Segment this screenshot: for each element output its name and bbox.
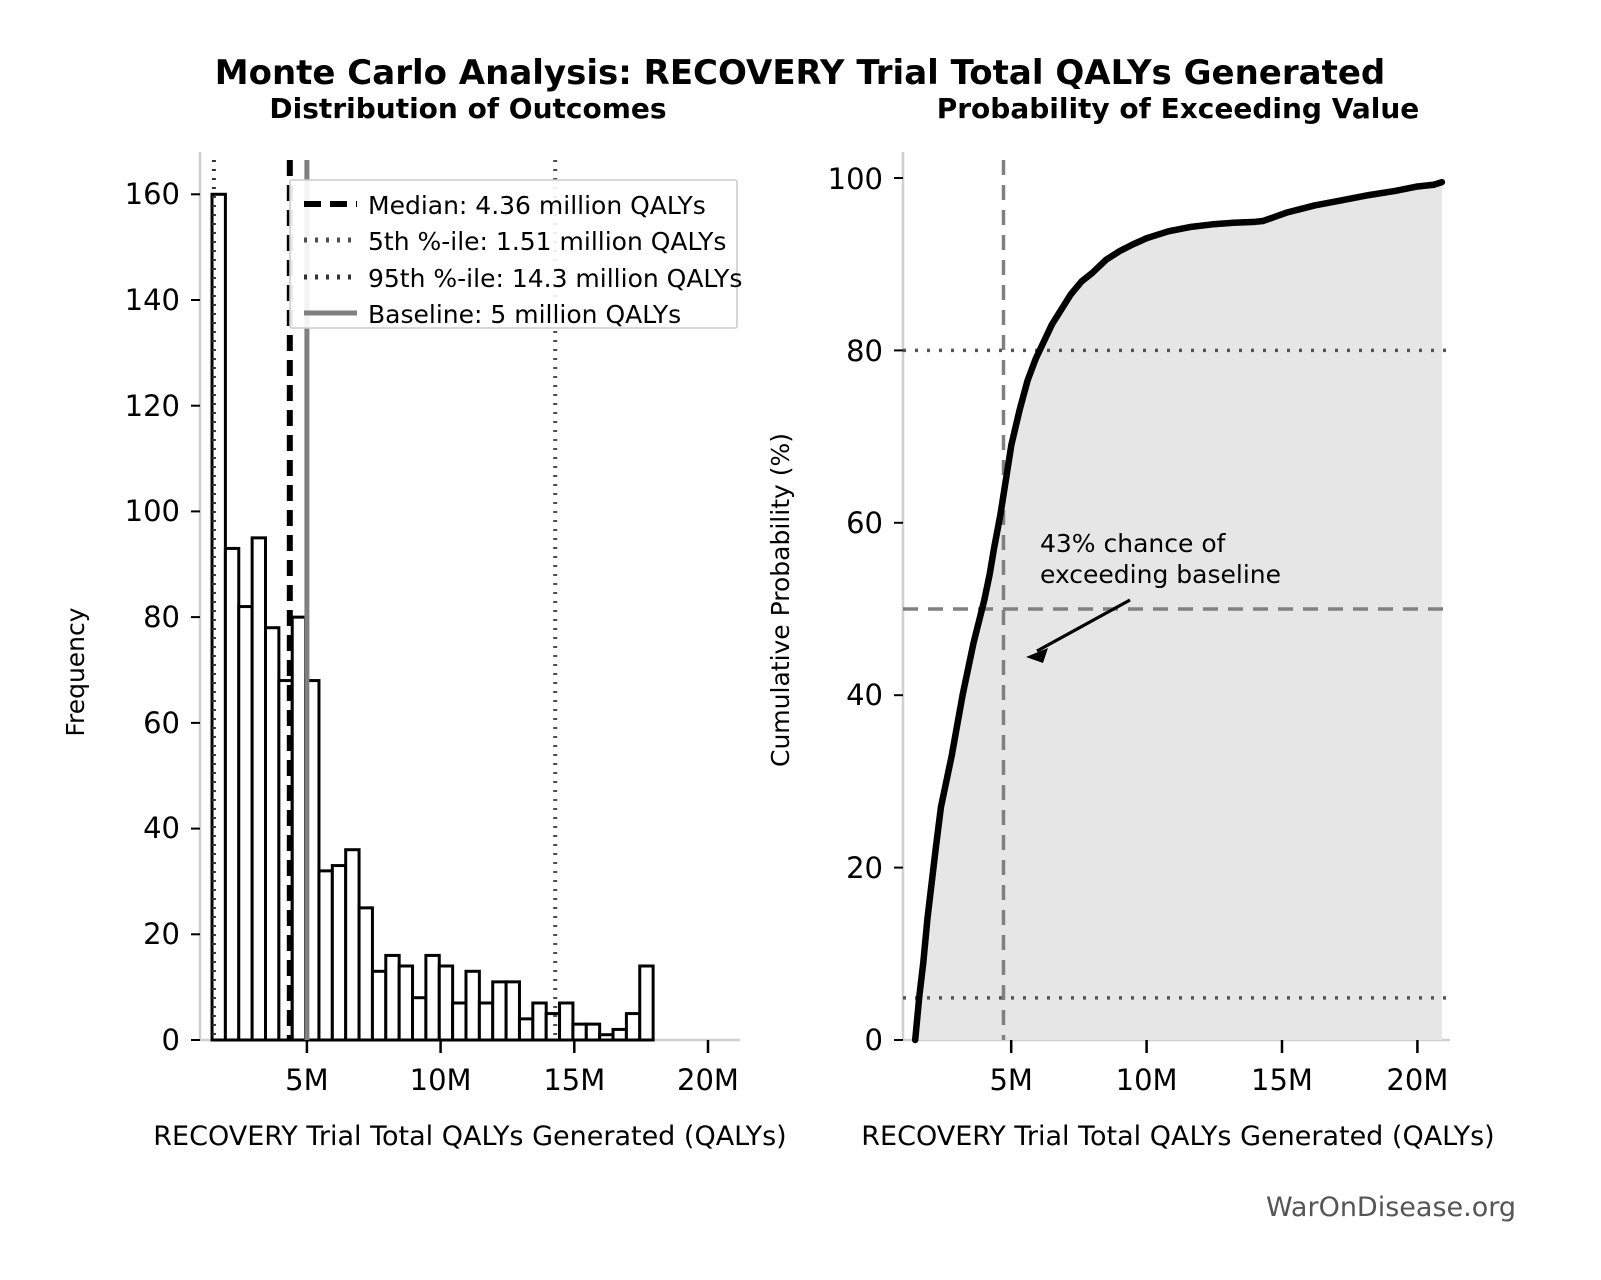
left-xtick-5m: 5M bbox=[285, 1063, 328, 1097]
right-xtick-20m: 20M bbox=[1386, 1063, 1448, 1097]
histogram-bar bbox=[560, 1003, 573, 1040]
right-ytick-0: 0 bbox=[865, 1023, 883, 1057]
histogram-bar bbox=[600, 1035, 613, 1040]
histogram-bar bbox=[573, 1024, 586, 1040]
histogram-bar bbox=[399, 966, 412, 1040]
left-panel-legend: Median: 4.36 million QALYs 5th %-ile: 1.… bbox=[290, 180, 742, 329]
histogram-bar bbox=[319, 871, 332, 1040]
left-panel-title: Distribution of Outcomes bbox=[269, 92, 666, 125]
histogram-bar bbox=[546, 1014, 559, 1040]
legend-label-p5: 5th %-ile: 1.51 million QALYs bbox=[368, 227, 726, 256]
right-y-axis-label: Cumulative Probability (%) bbox=[766, 433, 795, 767]
histogram-bar bbox=[239, 607, 252, 1040]
left-ytick-160: 160 bbox=[125, 177, 180, 211]
histogram-bar bbox=[493, 982, 506, 1040]
left-ytick-20: 20 bbox=[143, 917, 180, 951]
left-ytick-60: 60 bbox=[143, 706, 180, 740]
right-ytick-100: 100 bbox=[828, 162, 883, 196]
left-ytick-100: 100 bbox=[125, 494, 180, 528]
histogram-bar bbox=[640, 966, 653, 1040]
left-xtick-10m: 10M bbox=[410, 1063, 472, 1097]
histogram-bar bbox=[266, 628, 279, 1040]
histogram-bar bbox=[359, 908, 372, 1040]
left-xtick-20m: 20M bbox=[677, 1063, 739, 1097]
histogram-bar bbox=[506, 982, 519, 1040]
histogram-bar bbox=[212, 194, 225, 1040]
right-ytick-20: 20 bbox=[846, 851, 883, 885]
right-xtick-5m: 5M bbox=[989, 1063, 1032, 1097]
right-x-axis-label: RECOVERY Trial Total QALYs Generated (QA… bbox=[861, 1121, 1494, 1152]
legend-label-p95: 95th %-ile: 14.3 million QALYs bbox=[368, 264, 742, 293]
left-ytick-120: 120 bbox=[125, 389, 180, 423]
right-xtick-15m: 15M bbox=[1251, 1063, 1313, 1097]
left-ytick-0: 0 bbox=[162, 1023, 180, 1057]
histogram-bar bbox=[479, 1003, 492, 1040]
right-ytick-40: 40 bbox=[846, 678, 883, 712]
left-x-axis-label: RECOVERY Trial Total QALYs Generated (QA… bbox=[153, 1121, 786, 1152]
legend-label-median: Median: 4.36 million QALYs bbox=[368, 191, 706, 220]
left-ytick-40: 40 bbox=[143, 811, 180, 845]
right-ytick-80: 80 bbox=[846, 334, 883, 368]
left-ytick-80: 80 bbox=[143, 600, 180, 634]
histogram-bar bbox=[626, 1014, 639, 1040]
histogram-bar bbox=[453, 1003, 466, 1040]
histogram-bar bbox=[466, 971, 479, 1040]
histogram-bar bbox=[533, 1003, 546, 1040]
left-ytick-140: 140 bbox=[125, 283, 180, 317]
right-xtick-10m: 10M bbox=[1116, 1063, 1178, 1097]
left-xtick-15m: 15M bbox=[543, 1063, 605, 1097]
figure-canvas: Monte Carlo Analysis: RECOVERY Trial Tot… bbox=[0, 0, 1601, 1280]
histogram-bar bbox=[413, 998, 426, 1040]
right-ytick-60: 60 bbox=[846, 506, 883, 540]
monte-carlo-figure: Monte Carlo Analysis: RECOVERY Trial Tot… bbox=[0, 0, 1601, 1280]
histogram-bar bbox=[292, 617, 305, 1040]
histogram-bar bbox=[332, 866, 345, 1040]
left-y-axis-label: Frequency bbox=[61, 607, 90, 736]
right-panel-title: Probability of Exceeding Value bbox=[937, 92, 1420, 125]
legend-label-baseline: Baseline: 5 million QALYs bbox=[368, 300, 681, 329]
cdf-annotation-line1: 43% chance of bbox=[1040, 529, 1227, 558]
figure-suptitle: Monte Carlo Analysis: RECOVERY Trial Tot… bbox=[215, 53, 1385, 93]
cdf-annotation-line2: exceeding baseline bbox=[1040, 560, 1281, 589]
histogram-bar bbox=[519, 1019, 532, 1040]
histogram-bar bbox=[372, 971, 385, 1040]
histogram-bar bbox=[426, 955, 439, 1040]
histogram-bar bbox=[225, 548, 238, 1040]
histogram-bar bbox=[386, 955, 399, 1040]
histogram-bar bbox=[346, 850, 359, 1040]
histogram-bar bbox=[586, 1024, 599, 1040]
histogram-bar bbox=[439, 966, 452, 1040]
histogram-bar bbox=[252, 538, 265, 1040]
footer-watermark: WarOnDisease.org bbox=[1266, 1192, 1516, 1223]
histogram-bar bbox=[613, 1029, 626, 1040]
